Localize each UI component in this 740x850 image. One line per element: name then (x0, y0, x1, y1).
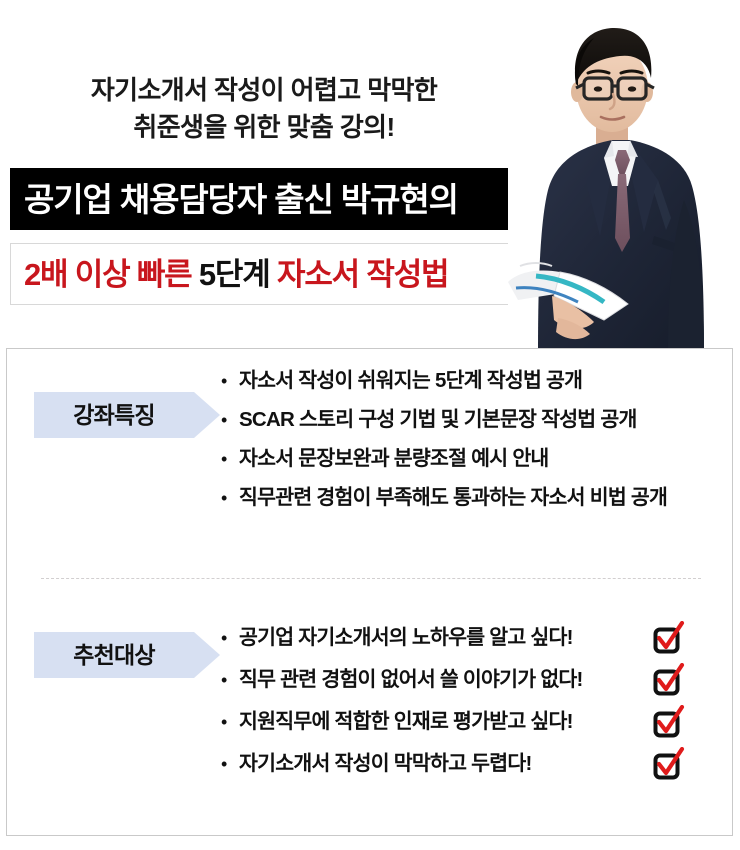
checkbox-checked-icon (651, 747, 685, 781)
feature-4-pre: 직무관련 경험이 부족해도 통과하는 자소서 비법 공개 (239, 486, 667, 509)
hero-section: 자기소개서 작성이 어렵고 막막한 취준생을 위한 맞춤 강의! 공기업 채용담… (0, 0, 740, 348)
list-item: • 자소서 작성이 쉬워지는 5단계 작성법 공개 (217, 371, 729, 410)
checkbox-checked-icon (651, 621, 685, 655)
feature-1-pre: 자소서 작성이 쉬워지는 (239, 369, 435, 392)
target-text-2: 직무 관련 경험이 없어서 쓸 이야기가 없다! (239, 670, 583, 691)
feature-1-post: 작성법 공개 (482, 369, 582, 392)
subtitle-part-2: 5단계 (199, 257, 270, 292)
feature-1-em: 5단계 (435, 369, 482, 392)
section-divider (41, 578, 701, 579)
hero-lead-text: 자기소개서 작성이 어렵고 막막한 취준생을 위한 맞춤 강의! (0, 72, 528, 146)
targets-tag: 추천대상 (34, 632, 194, 678)
bullet-dot-icon: • (217, 755, 239, 773)
instructor-photo (508, 0, 740, 352)
feature-2-em: SCAR (239, 408, 294, 431)
course-subtitle-bar: 2배 이상 빠른 5단계 자소서 작성법 (10, 243, 522, 305)
promo-banner: 자기소개서 작성이 어렵고 막막한 취준생을 위한 맞춤 강의! 공기업 채용담… (0, 0, 740, 850)
feature-text-1: 자소서 작성이 쉬워지는 5단계 작성법 공개 (239, 371, 582, 392)
feature-text-2: SCAR 스토리 구성 기법 및 기본문장 작성법 공개 (239, 410, 637, 431)
bullet-dot-icon: • (217, 713, 239, 731)
feature-text-3: 자소서 문장보완과 분량조절 예시 안내 (239, 449, 549, 470)
features-tag-label: 강좌특징 (73, 404, 154, 427)
list-item: • 직무관련 경험이 부족해도 통과하는 자소서 비법 공개 (217, 488, 729, 527)
list-item: • 자소서 문장보완과 분량조절 예시 안내 (217, 449, 729, 488)
bullet-dot-icon: • (217, 372, 239, 390)
bullet-dot-icon: • (217, 671, 239, 689)
bullet-dot-icon: • (217, 489, 239, 507)
bullet-dot-icon: • (217, 450, 239, 468)
checkbox-checked-icon (651, 663, 685, 697)
bullet-dot-icon: • (217, 629, 239, 647)
feature-text-4: 직무관련 경험이 부족해도 통과하는 자소서 비법 공개 (239, 488, 667, 509)
subtitle-part-1: 2배 이상 빠른 (24, 257, 191, 292)
course-subtitle-text: 2배 이상 빠른 5단계 자소서 작성법 (24, 259, 448, 290)
subtitle-part-3: 자소서 작성법 (277, 257, 448, 292)
course-details-box: 강좌특징 • 자소서 작성이 쉬워지는 5단계 작성법 공개 • SCAR 스토… (6, 348, 733, 836)
target-text-3: 지원직무에 적합한 인재로 평가받고 싶다! (239, 712, 573, 733)
features-tag: 강좌특징 (34, 392, 194, 438)
list-item: • 공기업 자기소개서의 노하우를 알고 싶다! (217, 617, 729, 659)
list-item: • 직무 관련 경험이 없어서 쓸 이야기가 없다! (217, 659, 729, 701)
list-item: • 자기소개서 작성이 막막하고 두렵다! (217, 743, 729, 785)
target-text-1: 공기업 자기소개서의 노하우를 알고 싶다! (239, 628, 573, 649)
checkbox-checked-icon (651, 705, 685, 739)
targets-tag-label: 추천대상 (73, 644, 154, 667)
features-bullet-list: • 자소서 작성이 쉬워지는 5단계 작성법 공개 • SCAR 스토리 구성 … (217, 371, 729, 527)
course-title-text: 공기업 채용담당자 출신 박규현의 (24, 183, 458, 216)
bullet-dot-icon: • (217, 411, 239, 429)
list-item: • SCAR 스토리 구성 기법 및 기본문장 작성법 공개 (217, 410, 729, 449)
feature-2-post: 스토리 구성 기법 및 기본문장 작성법 공개 (294, 408, 637, 431)
list-item: • 지원직무에 적합한 인재로 평가받고 싶다! (217, 701, 729, 743)
targets-bullet-list: • 공기업 자기소개서의 노하우를 알고 싶다! • 직무 관련 경험이 없어서… (217, 617, 729, 785)
course-title-bar: 공기업 채용담당자 출신 박규현의 (10, 168, 522, 230)
target-text-4: 자기소개서 작성이 막막하고 두렵다! (239, 754, 532, 775)
feature-3-pre: 자소서 문장보완과 분량조절 예시 안내 (239, 447, 549, 470)
